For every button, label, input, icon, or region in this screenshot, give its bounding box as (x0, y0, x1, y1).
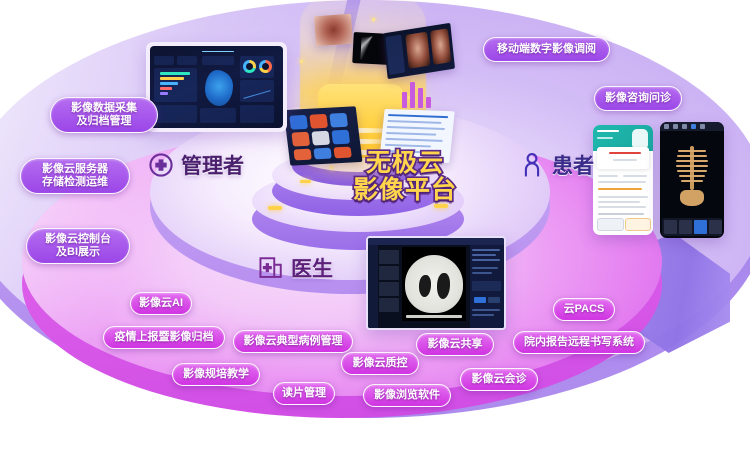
viewer-tool-icon[interactable] (664, 124, 669, 129)
workstation-scan-image-2 (430, 28, 451, 65)
tile-5 (311, 131, 330, 146)
sparkle-2 (372, 18, 375, 21)
patient-report-phone (593, 125, 653, 235)
viewer-tool-icon[interactable] (682, 124, 687, 129)
ct-info-row (472, 249, 500, 251)
pill-line-2: 及归档管理 (71, 115, 137, 128)
pill-image-cloud-qc[interactable]: 影像云质控 (341, 352, 419, 375)
tile-6 (331, 130, 350, 145)
dashboard-donut-1-hole (246, 63, 253, 70)
doctor-ct-viewer (366, 236, 506, 330)
ct-bed-line (406, 315, 462, 318)
ct-chest-slice (405, 255, 463, 313)
rib (677, 155, 707, 157)
phone-header-title (597, 130, 619, 132)
phone-action-secondary[interactable] (625, 218, 651, 231)
pill-line-2: 及BI展示 (45, 246, 111, 259)
ct-thumbnail (379, 298, 399, 312)
pill-mobile-image-retrieval[interactable]: 移动端数字影像调阅 (483, 37, 610, 62)
pill-standardized-training[interactable]: 影像规培教学 (172, 363, 260, 386)
pill-image-browser-software[interactable]: 影像浏览软件 (363, 384, 451, 407)
admin-dashboard-monitor (146, 42, 287, 132)
viewer-tool-icon[interactable] (673, 124, 678, 129)
rib (677, 170, 707, 172)
ct-image-area (402, 247, 466, 321)
tile-3 (329, 113, 348, 128)
workstation-sidebar (385, 35, 405, 75)
dashboard-bar (160, 77, 184, 80)
dashboard-kpi-2 (177, 56, 197, 65)
dashboard-kpi-1 (154, 56, 174, 65)
tile-7 (293, 149, 311, 161)
endoscopy-image-card (314, 14, 353, 47)
skeleton-3d-render (674, 146, 710, 208)
report-body (598, 196, 648, 198)
pill-image-data-collection[interactable]: 影像数据采集 及归档管理 (50, 97, 158, 133)
viewer-thumbnail[interactable] (709, 220, 722, 234)
dashboard-bar (160, 82, 178, 85)
person-icon (519, 152, 545, 178)
rib (676, 160, 708, 162)
pill-line-1: 影像云服务器 (42, 163, 108, 176)
ct-info-row (472, 314, 494, 316)
dashboard-bar (160, 87, 172, 90)
ct-action-button (474, 297, 486, 303)
platform-title-line2: 影像平台 (330, 177, 480, 204)
pill-line-1: 影像云控制台 (45, 233, 111, 246)
bar-chart-hologram (398, 74, 438, 108)
grid-row (387, 120, 441, 124)
role-administrator[interactable]: 管理者 (148, 150, 244, 180)
dashboard-map (205, 70, 233, 106)
pill-intra-hospital-remote-reporting[interactable]: 院内报告远程书写系统 (513, 331, 645, 354)
viewer-tool-icon[interactable] (691, 124, 696, 129)
chart-bar (402, 92, 407, 108)
spine-shape (690, 146, 694, 190)
rib (679, 175, 705, 177)
rib (681, 180, 703, 182)
pill-cloud-console-bi[interactable]: 影像云控制台 及BI展示 (26, 228, 130, 264)
pelvis-shape (680, 190, 704, 206)
infographic-canvas: 无极云 影像平台 管理者 患者 医生 影像数据采集 及归档管理 (0, 0, 750, 450)
dashboard-table-right (240, 105, 274, 123)
chart-bar (410, 82, 415, 108)
ct-info-row (472, 254, 496, 256)
medical-report-icon (258, 255, 284, 281)
ct-thumbnail (379, 266, 399, 280)
report-field (598, 175, 618, 177)
report-field (598, 181, 646, 183)
platform-title: 无极云 影像平台 (330, 150, 480, 204)
pill-epidemic-report-archive[interactable]: 疫情上报暨影像归档 (103, 326, 225, 349)
grid-row (388, 114, 448, 118)
dashboard-table-center (200, 108, 236, 123)
dashboard-screen (150, 46, 283, 128)
role-patient[interactable]: 患者 (519, 150, 594, 180)
dashboard-bar (160, 72, 190, 75)
pill-line-1: 影像数据采集 (71, 102, 137, 115)
viewer-thumbnail-strip (662, 218, 722, 236)
tile-4 (291, 132, 310, 147)
grid-row (385, 138, 442, 142)
phone-header-sub (597, 137, 613, 139)
rib (676, 165, 708, 167)
role-patient-label: 患者 (552, 150, 594, 180)
dashboard-donut-2-hole (262, 63, 269, 70)
pill-image-consultation[interactable]: 影像咨询问诊 (594, 86, 682, 111)
pill-image-cloud-ai[interactable]: 影像云AI (130, 292, 192, 315)
pill-image-cloud-sharing[interactable]: 影像云共享 (416, 333, 494, 356)
echo-fan-shape (360, 35, 383, 60)
ct-lung-lobe-right (437, 273, 450, 299)
pedestal-accent-right (434, 204, 448, 208)
ct-info-row (472, 272, 492, 274)
viewer-thumbnail[interactable] (694, 220, 707, 234)
pill-cloud-pacs[interactable]: 云PACS (553, 298, 615, 321)
role-doctor-label: 医生 (291, 253, 333, 283)
dashboard-title-text (202, 51, 234, 52)
dashboard-table-left (154, 105, 197, 123)
dashboard-kpi-center (202, 56, 234, 65)
viewer-thumbnail[interactable] (679, 220, 692, 234)
ct-toolbar (368, 238, 504, 245)
doctor-avatar-icon (632, 129, 648, 148)
ct-tool-rail (368, 245, 378, 328)
grid-row (386, 132, 436, 136)
workstation-scan-image (405, 32, 430, 69)
role-administrator-label: 管理者 (181, 150, 244, 180)
ct-info-row (472, 281, 501, 291)
report-subtitle (613, 159, 637, 161)
chart-bar (426, 97, 431, 108)
ct-info-panel (470, 245, 504, 328)
ct-action-button (488, 297, 500, 303)
pedestal-accent-left (268, 206, 282, 210)
report-field (623, 175, 647, 177)
ct-lung-lobe-left (419, 275, 431, 297)
ct-info-row (472, 259, 500, 261)
viewer-tool-icon[interactable] (700, 124, 705, 129)
ct-info-row (472, 267, 498, 269)
pill-cloud-server-ops[interactable]: 影像云服务器 存储检测运维 (20, 158, 130, 194)
viewer-toolbar (660, 122, 724, 131)
ct-thumbnail (379, 282, 399, 296)
ct-viewer-screen (368, 238, 504, 328)
dashboard-bar (160, 92, 168, 95)
tile-1 (289, 115, 308, 130)
patient-3d-viewer-phone (660, 122, 724, 238)
viewer-thumbnail[interactable] (664, 220, 677, 234)
ct-info-row (472, 309, 500, 311)
phone-action-primary[interactable] (597, 218, 624, 231)
sparkle-1 (300, 60, 303, 63)
rib (678, 150, 706, 152)
report-highlight (598, 188, 642, 190)
pill-reading-management[interactable]: 读片管理 (273, 382, 335, 405)
grid-row (387, 126, 445, 130)
report-body (598, 201, 640, 203)
phone-report-card (597, 147, 649, 169)
circle-plus-icon (148, 152, 174, 178)
report-body (598, 206, 646, 208)
chart-bar (418, 88, 423, 108)
role-doctor[interactable]: 医生 (258, 253, 333, 283)
pill-line-2: 存储检测运维 (42, 176, 108, 189)
tile-2 (309, 114, 328, 129)
pill-image-cloud-consultation[interactable]: 影像云会诊 (460, 368, 538, 391)
report-hospital-name (609, 152, 641, 154)
ct-thumbnail (379, 250, 399, 264)
platform-title-line1: 无极云 (330, 150, 480, 177)
pill-typical-case-management[interactable]: 影像云典型病例管理 (233, 330, 353, 353)
grid-row (385, 144, 431, 148)
pedestal-accent-mid (300, 180, 311, 183)
report-body (598, 213, 644, 215)
